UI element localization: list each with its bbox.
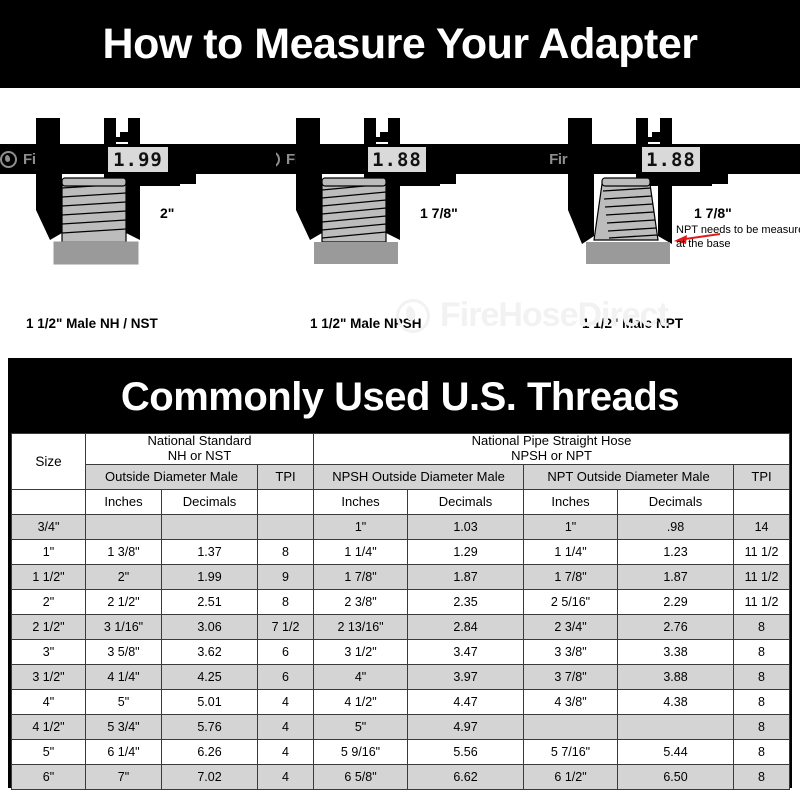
cell-npt-in: 3 7/8" [524,664,618,689]
caliper-lcd-display-npsh: 1.88 [368,147,426,172]
cell-npt-in: 1 1/4" [524,539,618,564]
cell-size: 3/4" [12,514,86,539]
cell-npt-in: 6 1/2" [524,764,618,789]
table-row: 3/4"1"1.031".9814 [12,514,790,539]
cell-npsh-in: 5" [314,714,408,739]
table-row: 3"3 5/8"3.6263 1/2"3.473 3/8"3.388 [12,639,790,664]
cell-nh-tpi: 9 [258,564,314,589]
cell-npt-tpi: 8 [734,689,790,714]
cell-npt-dec [618,714,734,739]
cell-size: 4 1/2" [12,714,86,739]
page-title-banner: How to Measure Your Adapter [0,0,800,88]
cell-npt-dec: 6.50 [618,764,734,789]
cell-nh-in: 5" [86,689,162,714]
cell-nh-dec: 1.37 [162,539,258,564]
table-row: 4 1/2"5 3/4"5.7645"4.978 [12,714,790,739]
header-npt-outside-diameter: NPT Outside Diameter Male [524,464,734,489]
thread-profile-npt [594,178,658,240]
cell-nh-in: 2" [86,564,162,589]
measurement-label-npsh: 1 7/8" [420,205,458,221]
table-header-row-subgroups: Outside Diameter Male TPI NPSH Outside D… [12,464,790,489]
cell-npt-tpi: 8 [734,639,790,664]
header-npt-tpi: TPI [734,464,790,489]
cell-npsh-dec: 1.29 [408,539,524,564]
cell-nh-dec: 5.01 [162,689,258,714]
cell-npsh-dec: 6.62 [408,764,524,789]
header-group-np-line1: National Pipe Straight Hose [314,434,789,449]
cell-size: 4" [12,689,86,714]
cell-npt-dec: 1.23 [618,539,734,564]
cell-npsh-in: 1 7/8" [314,564,408,589]
cell-nh-tpi: 4 [258,739,314,764]
cell-npsh-in: 4" [314,664,408,689]
cell-npsh-in: 2 13/16" [314,614,408,639]
cell-npt-in: 4 3/8" [524,689,618,714]
cell-nh-tpi: 4 [258,689,314,714]
header-group-nh-line1: National Standard [86,434,313,449]
threads-table: Size National Standard NH or NST Nationa… [11,433,790,790]
header-group-national-standard: National Standard NH or NST [86,434,314,465]
caliper-lcd-display-npt: 1.88 [642,147,700,172]
header-npsh-decimals: Decimals [408,489,524,514]
cell-nh-tpi: 8 [258,589,314,614]
cell-npt-dec: 4.38 [618,689,734,714]
cell-npt-dec: 2.29 [618,589,734,614]
header-nh-inches: Inches [86,489,162,514]
cell-npt-in: 1 7/8" [524,564,618,589]
cell-nh-in [86,514,162,539]
table-header-row-groups: Size National Standard NH or NST Nationa… [12,434,790,465]
cell-npt-tpi: 11 1/2 [734,539,790,564]
cell-npsh-in: 5 9/16" [314,739,408,764]
cell-npt-dec: 3.88 [618,664,734,689]
table-row: 4"5"5.0144 1/2"4.474 3/8"4.388 [12,689,790,714]
cell-nh-dec: 2.51 [162,589,258,614]
cell-npt-dec: 2.76 [618,614,734,639]
cell-nh-dec: 5.76 [162,714,258,739]
cell-size: 2 1/2" [12,614,86,639]
cell-npsh-dec: 4.97 [408,714,524,739]
cell-nh-dec [162,514,258,539]
diagram-caption-npt: 1 1/2" Male NPT [548,316,800,331]
header-npsh-inches: Inches [314,489,408,514]
cell-nh-in: 1 3/8" [86,539,162,564]
header-unit-blank-size [12,489,86,514]
cell-npsh-dec: 2.35 [408,589,524,614]
cell-npsh-in: 1 1/4" [314,539,408,564]
cell-npt-in: 3 3/8" [524,639,618,664]
npt-measurement-note: NPT needs to be measured at the base [676,224,800,252]
table-title: Commonly Used U.S. Threads [121,375,679,420]
cell-npt-tpi: 11 1/2 [734,564,790,589]
cell-npsh-dec: 4.47 [408,689,524,714]
thread-profile-nh [62,178,126,242]
cell-nh-tpi: 6 [258,639,314,664]
cell-nh-tpi: 8 [258,539,314,564]
cell-npt-in: 2 3/4" [524,614,618,639]
table-head: Size National Standard NH or NST Nationa… [12,434,790,515]
cell-nh-tpi: 7 1/2 [258,614,314,639]
threads-table-section: Commonly Used U.S. Threads Size National… [8,358,792,788]
cell-npsh-dec: 3.97 [408,664,524,689]
cell-npt-in: 1" [524,514,618,539]
thread-profile-npsh [322,178,386,242]
header-group-nh-line2: NH or NST [86,449,313,464]
header-group-national-pipe: National Pipe Straight Hose NPSH or NPT [314,434,790,465]
cell-size: 6" [12,764,86,789]
cell-nh-tpi: 4 [258,714,314,739]
caliper-diagram-strip: FireHoseDirect FireHoseDirect FireHoseDi… [0,88,800,353]
cell-npt-tpi: 8 [734,614,790,639]
cell-npt-tpi: 8 [734,764,790,789]
table-header-row-units: Inches Decimals Inches Decimals Inches D… [12,489,790,514]
measurement-label-npt: 1 7/8" [694,205,732,221]
header-npt-inches: Inches [524,489,618,514]
header-npt-decimals: Decimals [618,489,734,514]
cell-npsh-in: 3 1/2" [314,639,408,664]
cell-npt-dec: .98 [618,514,734,539]
cell-nh-dec: 1.99 [162,564,258,589]
cell-npt-in: 2 5/16" [524,589,618,614]
cell-npsh-in: 4 1/2" [314,689,408,714]
cell-npsh-dec: 2.84 [408,614,524,639]
cell-npt-in: 5 7/16" [524,739,618,764]
cell-nh-in: 6 1/4" [86,739,162,764]
caliper-illustration-npt [548,88,800,353]
cell-nh-dec: 3.06 [162,614,258,639]
table-row: 1"1 3/8"1.3781 1/4"1.291 1/4"1.2311 1/2 [12,539,790,564]
cell-nh-tpi: 6 [258,664,314,689]
table-row: 2"2 1/2"2.5182 3/8"2.352 5/16"2.2911 1/2 [12,589,790,614]
diagram-caption-nh: 1 1/2" Male NH / NST [8,316,276,331]
cell-npt-tpi: 14 [734,514,790,539]
cell-npsh-dec: 3.47 [408,639,524,664]
table-row: 3 1/2"4 1/4"4.2564"3.973 7/8"3.888 [12,664,790,689]
page-title: How to Measure Your Adapter [103,20,698,69]
header-nh-outside-diameter: Outside Diameter Male [86,464,258,489]
diagram-nh-nst: 1.99 2" 1 1/2" Male NH / NST [8,88,276,353]
cell-nh-dec: 4.25 [162,664,258,689]
caliper-illustration-nh [8,88,276,353]
cell-npt-tpi: 8 [734,664,790,689]
table-row: 1 1/2"2"1.9991 7/8"1.871 7/8"1.8711 1/2 [12,564,790,589]
cell-npt-in [524,714,618,739]
header-size: Size [12,434,86,490]
header-npsh-outside-diameter: NPSH Outside Diameter Male [314,464,524,489]
cell-size: 5" [12,739,86,764]
cell-npt-tpi: 8 [734,739,790,764]
cell-npt-dec: 5.44 [618,739,734,764]
cell-npt-tpi: 8 [734,714,790,739]
header-nh-decimals: Decimals [162,489,258,514]
header-nh-tpi: TPI [258,464,314,489]
cell-npt-dec: 3.38 [618,639,734,664]
cell-nh-dec: 7.02 [162,764,258,789]
cell-npsh-dec: 1.03 [408,514,524,539]
table-row: 5"6 1/4"6.2645 9/16"5.565 7/16"5.448 [12,739,790,764]
cell-npsh-in: 2 3/8" [314,589,408,614]
cell-nh-in: 3 5/8" [86,639,162,664]
cell-size: 1" [12,539,86,564]
cell-nh-in: 3 1/16" [86,614,162,639]
caliper-lcd-display-nh: 1.99 [108,147,168,172]
cell-npsh-in: 1" [314,514,408,539]
cell-nh-dec: 3.62 [162,639,258,664]
cell-nh-in: 5 3/4" [86,714,162,739]
table-body: 3/4"1"1.031".98141"1 3/8"1.3781 1/4"1.29… [12,514,790,789]
cell-size: 3 1/2" [12,664,86,689]
measurement-label-nh: 2" [160,205,174,221]
cell-npt-dec: 1.87 [618,564,734,589]
cell-nh-in: 7" [86,764,162,789]
diagram-npt: 1.88 1 7/8" NPT needs to be measured at … [548,88,800,353]
cell-size: 2" [12,589,86,614]
table-row: 2 1/2"3 1/16"3.067 1/22 13/16"2.842 3/4"… [12,614,790,639]
cell-nh-tpi [258,514,314,539]
table-row: 6"7"7.0246 5/8"6.626 1/2"6.508 [12,764,790,789]
cell-npsh-dec: 1.87 [408,564,524,589]
header-unit-blank-npt-tpi [734,489,790,514]
cell-nh-tpi: 4 [258,764,314,789]
cell-npt-tpi: 11 1/2 [734,589,790,614]
cell-nh-in: 4 1/4" [86,664,162,689]
caliper-illustration-npsh [280,88,548,353]
cell-npsh-dec: 5.56 [408,739,524,764]
cell-nh-dec: 6.26 [162,739,258,764]
cell-nh-in: 2 1/2" [86,589,162,614]
cell-size: 3" [12,639,86,664]
header-unit-blank-nh-tpi [258,489,314,514]
table-title-banner: Commonly Used U.S. Threads [11,361,789,433]
diagram-caption-npsh: 1 1/2" Male NPSH [280,316,548,331]
diagram-npsh: 1.88 1 7/8" 1 1/2" Male NPSH [280,88,548,353]
cell-size: 1 1/2" [12,564,86,589]
header-group-np-line2: NPSH or NPT [314,449,789,464]
cell-npsh-in: 6 5/8" [314,764,408,789]
infographic-page: How to Measure Your Adapter FireHoseDire… [0,0,800,800]
